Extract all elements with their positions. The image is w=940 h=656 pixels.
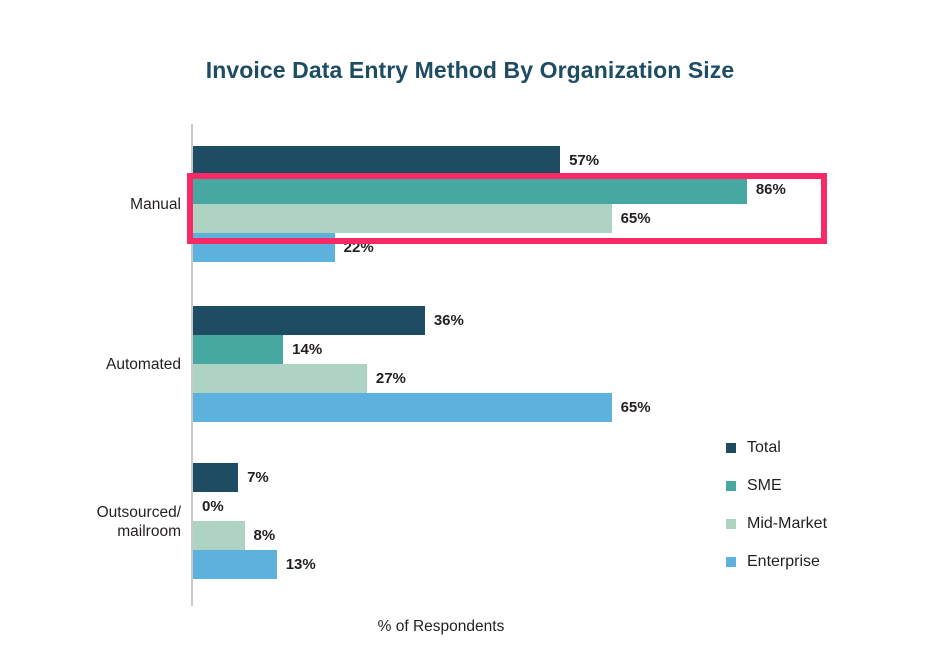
category-label-outsourced-mailroom: Outsourced/ mailroom [11, 503, 181, 541]
legend-label: SME [747, 477, 782, 495]
bar [193, 364, 367, 393]
legend-item-mid-market[interactable]: Mid-Market [726, 505, 827, 543]
bar-value-label: 65% [612, 393, 651, 422]
category-label-line1: Outsourced/ [97, 504, 181, 521]
bar-value-label: 0% [193, 492, 224, 521]
bar [193, 233, 335, 262]
category-label-automated: Automated [11, 355, 181, 374]
bar-value-label: 14% [283, 335, 322, 364]
chart-title: Invoice Data Entry Method By Organizatio… [0, 57, 940, 84]
bar-chart-figure: Invoice Data Entry Method By Organizatio… [0, 0, 940, 656]
legend-swatch-icon [726, 519, 736, 529]
bar-value-label: 57% [560, 146, 599, 175]
bar-row: 14% [193, 335, 831, 364]
bar-group: 57%86%65%22% [193, 146, 831, 262]
bar-row: 65% [193, 204, 831, 233]
chart-legend: TotalSMEMid-MarketEnterprise [726, 429, 827, 581]
bar [193, 306, 425, 335]
bar-row: 27% [193, 364, 831, 393]
bar [193, 393, 612, 422]
x-axis-title: % of Respondents [191, 618, 691, 636]
category-label-line1: Automated [106, 356, 181, 373]
legend-swatch-icon [726, 557, 736, 567]
legend-item-sme[interactable]: SME [726, 467, 827, 505]
bar-value-label: 36% [425, 306, 464, 335]
bar-row: 36% [193, 306, 831, 335]
bar-row: 22% [193, 233, 831, 262]
bar [193, 550, 277, 579]
category-label-manual: Manual [11, 195, 181, 214]
bar-row: 57% [193, 146, 831, 175]
bar-value-label: 86% [747, 175, 786, 204]
bar [193, 463, 238, 492]
category-axis-labels: Manual Automated Outsourced/ mailroom [0, 124, 181, 606]
bar [193, 146, 560, 175]
bar-row: 86% [193, 175, 831, 204]
bar [193, 335, 283, 364]
bar [193, 175, 747, 204]
legend-swatch-icon [726, 443, 736, 453]
legend-swatch-icon [726, 481, 736, 491]
bar [193, 204, 612, 233]
bar-value-label: 8% [245, 521, 276, 550]
bar [193, 521, 245, 550]
legend-item-enterprise[interactable]: Enterprise [726, 543, 827, 581]
bar-value-label: 27% [367, 364, 406, 393]
bar-row: 65% [193, 393, 831, 422]
legend-label: Total [747, 439, 781, 457]
bar-value-label: 65% [612, 204, 651, 233]
legend-label: Enterprise [747, 553, 820, 571]
bar-group: 36%14%27%65% [193, 306, 831, 422]
bar-value-label: 22% [335, 233, 374, 262]
category-label-line1: Manual [130, 196, 181, 213]
legend-label: Mid-Market [747, 515, 827, 533]
bar-value-label: 13% [277, 550, 316, 579]
bar-value-label: 7% [238, 463, 269, 492]
legend-item-total[interactable]: Total [726, 429, 827, 467]
category-label-line2: mailroom [117, 523, 181, 540]
